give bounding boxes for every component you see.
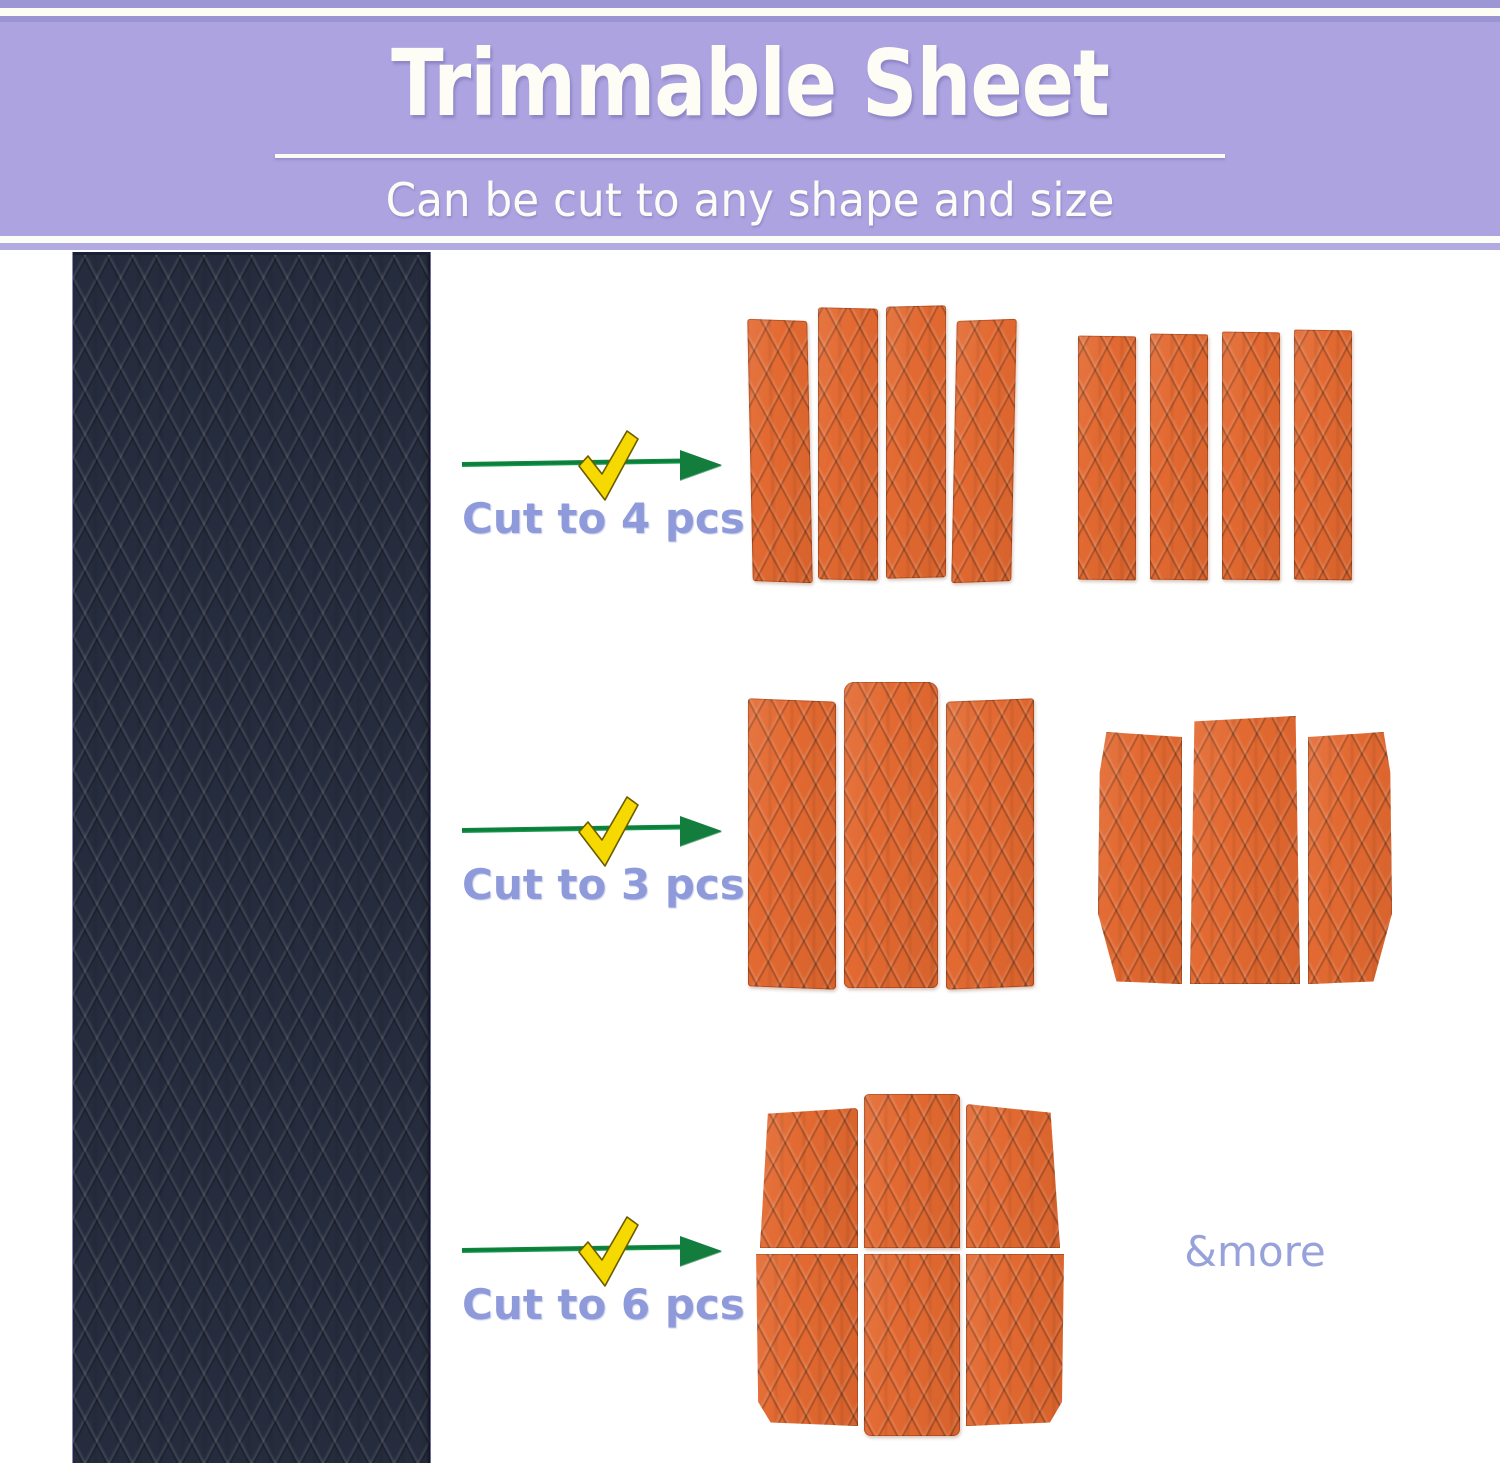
pad-piece (966, 1104, 1060, 1248)
arrow-right-icon (680, 1236, 722, 1266)
page-subtitle: Can be cut to any shape and size (38, 172, 1463, 228)
arrow-right-icon (680, 816, 722, 846)
product-infographic: Trimmable Sheet Can be cut to any shape … (0, 0, 1500, 1465)
pad-piece (1308, 732, 1392, 984)
pad-piece (966, 1254, 1066, 1426)
pad-piece (946, 698, 1034, 989)
banner-bottom-rule (0, 243, 1500, 250)
pad-piece (951, 319, 1016, 583)
cut-to-4-label: Cut to 4 pcs (462, 494, 722, 544)
grid-6-piece-tail-pad (738, 1086, 1078, 1438)
cut-to-6-label: Cut to 6 pcs (462, 1280, 722, 1330)
banner-top-gap (0, 8, 1500, 16)
pad-piece (864, 1094, 960, 1248)
banner-top-strip (0, 0, 1500, 8)
pad-piece (1222, 332, 1280, 581)
banner-divider (275, 154, 1225, 158)
arched-3-panel-pad (748, 678, 1038, 990)
pad-piece (760, 1108, 858, 1248)
pad-piece (864, 1254, 960, 1436)
pad-piece (748, 698, 836, 989)
arrow-right-icon (680, 450, 722, 480)
cut-to-3-label: Cut to 3 pcs (462, 860, 722, 910)
tapered-3-panel-tail-pad (1098, 712, 1388, 984)
pad-piece (844, 682, 938, 988)
parallel-4-strip-pad (1078, 330, 1358, 582)
trimmable-sheet-image (73, 252, 430, 1463)
pad-piece (1150, 334, 1208, 581)
pad-piece (747, 319, 812, 583)
pad-piece (1078, 336, 1136, 581)
pad-piece (754, 1254, 858, 1426)
sheet-right-edge-shading (426, 255, 430, 1463)
pad-piece (1294, 330, 1352, 581)
page-title: Trimmable Sheet (53, 34, 1448, 134)
pad-piece (1190, 716, 1300, 984)
pad-piece (1098, 732, 1182, 984)
more-label: &more (1165, 1226, 1345, 1278)
pad-piece (818, 307, 878, 580)
banner-bottom-gap (0, 236, 1500, 243)
traction-texture (73, 255, 430, 1463)
pad-piece (886, 305, 946, 578)
fanned-4-strip-pad (745, 296, 1010, 586)
